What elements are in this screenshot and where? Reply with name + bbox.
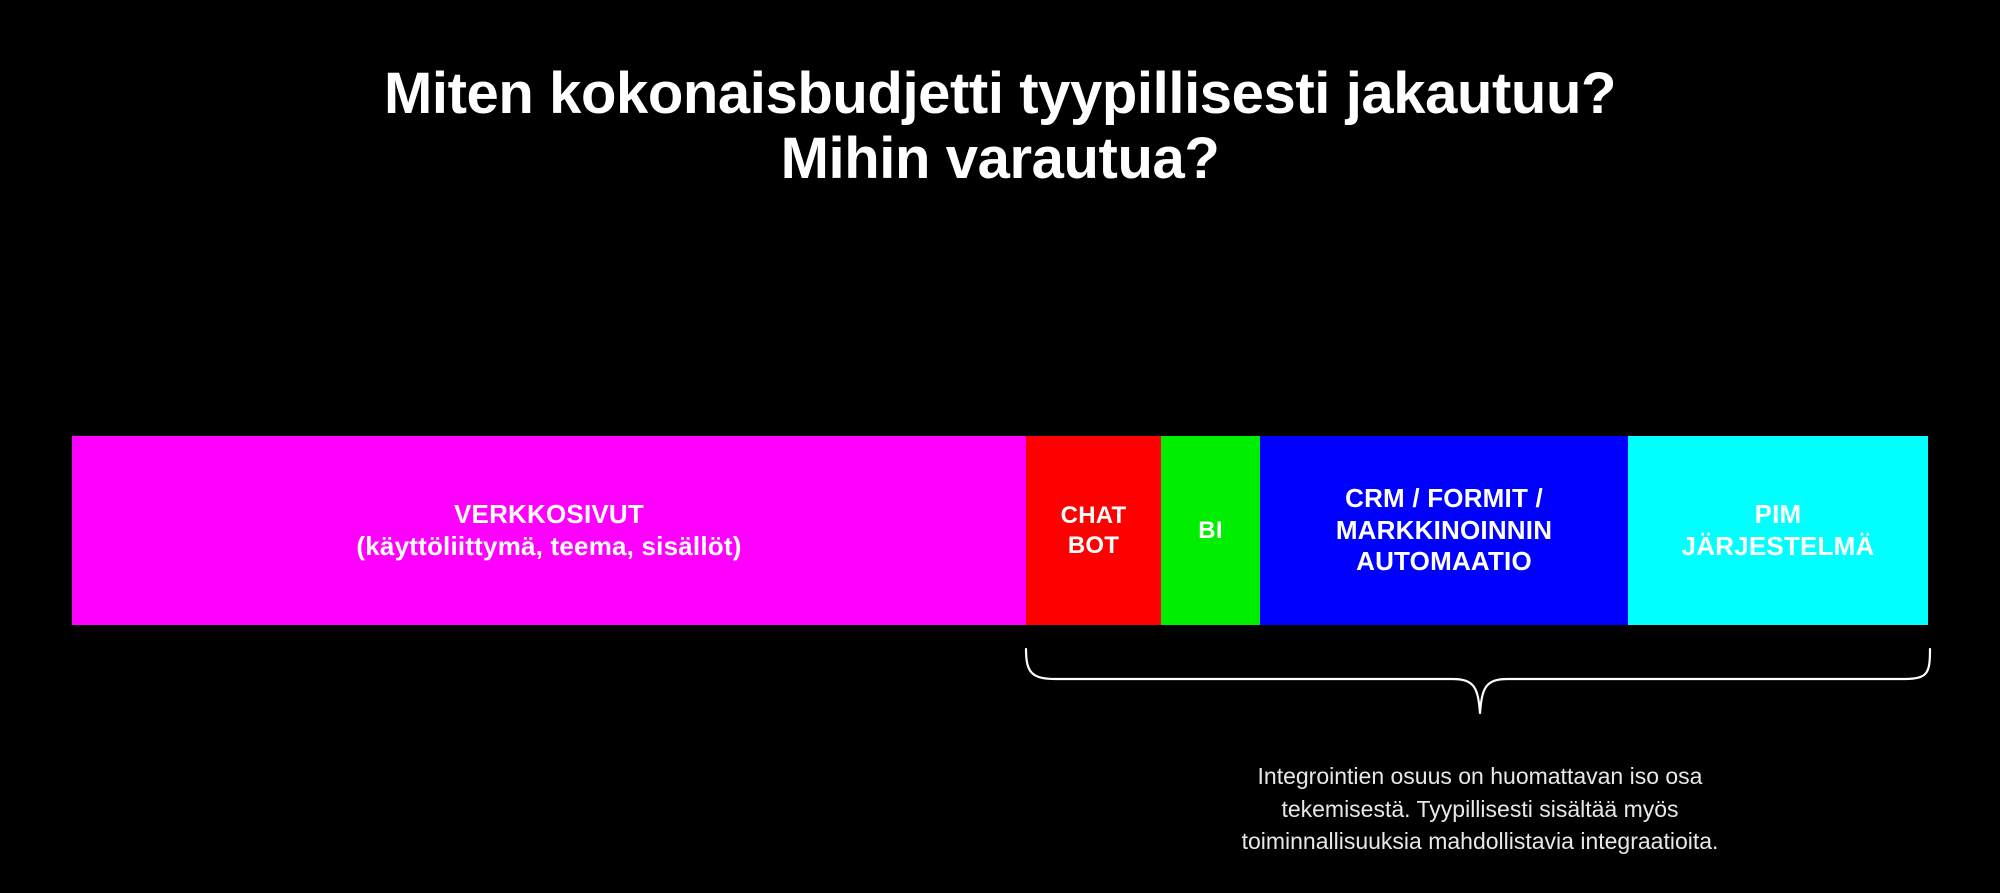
bar-segment-crm-formit-markkinoinnin-automaatio: CRM / FORMIT / MARKKINOINNIN AUTOMAATIO: [1260, 436, 1628, 625]
bar-segment-verkkosivut: VERKKOSIVUT (käyttöliittymä, teema, sisä…: [72, 436, 1026, 625]
page-title: Miten kokonaisbudjetti tyypillisesti jak…: [0, 62, 2000, 192]
bar-segment-label: CRM / FORMIT / MARKKINOINNIN AUTOMAATIO: [1336, 483, 1552, 578]
title-line-2: Mihin varautua?: [40, 127, 1960, 192]
budget-stacked-bar: VERKKOSIVUT (käyttöliittymä, teema, sisä…: [72, 436, 1928, 625]
integration-brace: [1022, 643, 1934, 719]
title-line-1: Miten kokonaisbudjetti tyypillisesti jak…: [40, 62, 1960, 127]
bar-segment-pim-jarjestelma: PIM JÄRJESTELMÄ: [1628, 436, 1928, 625]
brace-path: [1026, 649, 1930, 713]
bar-segment-label: CHAT BOT: [1061, 501, 1127, 560]
bar-segment-label: BI: [1198, 516, 1222, 545]
bar-segment-label: VERKKOSIVUT (käyttöliittymä, teema, sisä…: [356, 499, 741, 562]
bar-segment-chat-bot: CHAT BOT: [1026, 436, 1161, 625]
slide-canvas: Miten kokonaisbudjetti tyypillisesti jak…: [0, 0, 2000, 893]
bar-segment-label: PIM JÄRJESTELMÄ: [1682, 499, 1875, 562]
bar-segment-bi: BI: [1161, 436, 1260, 625]
integration-caption: Integrointien osuus on huomattavan iso o…: [1060, 760, 1900, 858]
